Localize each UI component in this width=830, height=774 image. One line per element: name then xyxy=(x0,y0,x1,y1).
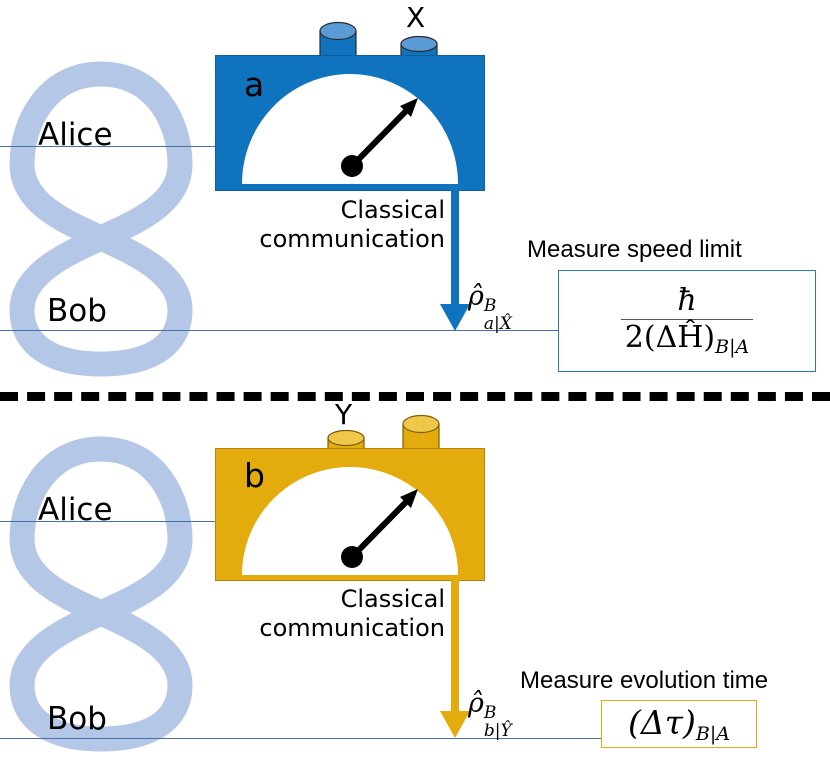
party-label-bob-b: Bob xyxy=(47,704,107,735)
device-needle-a xyxy=(242,74,458,184)
device-needle-b xyxy=(242,467,458,575)
state-label-b: ρ̂Bb|Ŷ xyxy=(468,690,484,717)
cc-line2-b: communication xyxy=(140,614,445,643)
party-label-alice-a: Alice xyxy=(38,120,113,151)
formula-fraction-a: ħ 2(ΔĤ)B|A xyxy=(621,284,753,358)
bob-line-a xyxy=(0,330,620,331)
panel-b: Alice Bob Y b C xyxy=(0,397,830,774)
formula-denominator-sub-a: B|A xyxy=(715,336,749,358)
cc-line1-a: Classical xyxy=(140,196,445,225)
formula-denominator-a: 2(ΔĤ)B|A xyxy=(621,320,753,358)
formula-tau-main-b: (Δτ) xyxy=(628,703,696,742)
party-label-alice-b: Alice xyxy=(38,495,113,526)
rho-subscript-b: b|Ŷ xyxy=(484,723,512,740)
rho-superscript-b: B xyxy=(484,705,497,722)
measurement-device-b[interactable]: b xyxy=(215,448,485,581)
rho-superscript-a: B xyxy=(484,298,497,315)
cc-line1-b: Classical xyxy=(140,585,445,614)
panel-letter-a: a xyxy=(244,68,264,101)
rho-symbol-b: ρ̂ xyxy=(468,690,484,717)
measurement-device-a[interactable]: a xyxy=(215,55,485,191)
formula-numerator-a: ħ xyxy=(677,284,696,319)
formula-tau-b: (Δτ)B|A xyxy=(628,703,730,745)
panel-a: Alice Bob X a C xyxy=(0,0,830,397)
knob-label-x: X xyxy=(406,4,425,32)
formula-denominator-main-a: 2(ΔĤ) xyxy=(625,320,715,355)
formula-box-evolution-time: (Δτ)B|A xyxy=(601,700,757,748)
cc-line2-a: communication xyxy=(140,225,445,254)
classical-communication-arrow-a xyxy=(437,188,473,334)
rho-symbol-a: ρ̂ xyxy=(468,283,484,310)
figure-canvas: Alice Bob X a C xyxy=(0,0,830,774)
measure-caption-b: Measure evolution time xyxy=(520,669,768,693)
classical-communication-label-b: Classical communication xyxy=(140,585,445,644)
party-label-bob-a: Bob xyxy=(47,296,107,327)
classical-communication-label-a: Classical communication xyxy=(140,196,445,255)
rho-subscript-a: a|X̂ xyxy=(484,316,512,333)
bob-line-b xyxy=(0,738,620,739)
panel-letter-b: b xyxy=(244,459,265,492)
state-label-a: ρ̂Ba|X̂ xyxy=(468,283,484,310)
knob-label-y: Y xyxy=(335,401,352,429)
formula-box-speed-limit: ħ 2(ΔĤ)B|A xyxy=(558,270,816,372)
measure-caption-a: Measure speed limit xyxy=(527,238,742,262)
formula-tau-sub-b: B|A xyxy=(696,723,730,745)
